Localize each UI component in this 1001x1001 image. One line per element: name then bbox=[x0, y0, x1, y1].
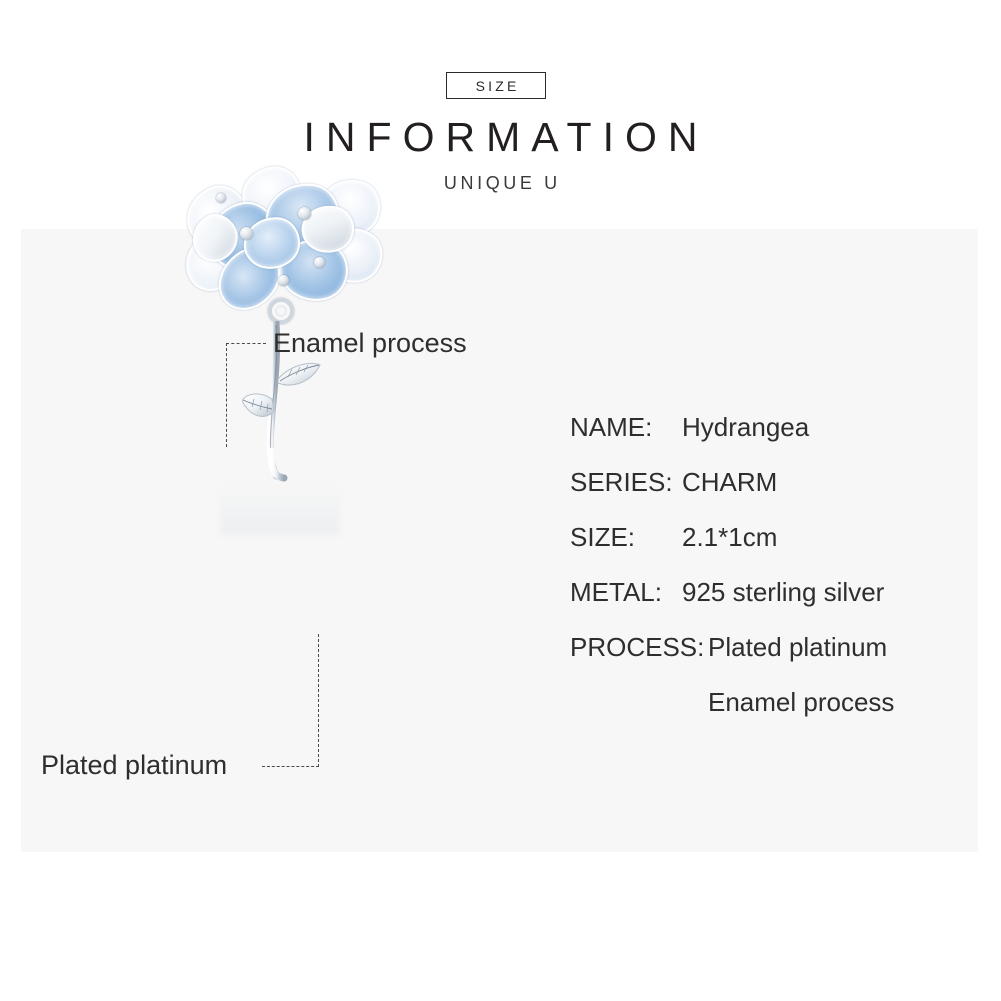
spec-value-process-continuation: Enamel process bbox=[708, 689, 894, 715]
spec-row-name: NAME: Hydrangea bbox=[570, 414, 940, 469]
flower-center-1 bbox=[240, 227, 253, 240]
product-information-page: SIZE INFORMATION UNIQUE U bbox=[0, 0, 1001, 1001]
callout-bottom-leader-horizontal bbox=[262, 766, 319, 767]
spec-value-size: 2.1*1cm bbox=[682, 524, 777, 550]
callout-bottom-leader-vertical bbox=[318, 634, 319, 767]
spec-value-metal: 925 sterling silver bbox=[682, 579, 884, 605]
callout-top-leader-horizontal bbox=[226, 343, 266, 344]
spec-value-process: Plated platinum bbox=[708, 634, 887, 660]
flower-center-4 bbox=[278, 275, 289, 286]
spec-row-series: SERIES: CHARM bbox=[570, 469, 940, 524]
spec-row-process: PROCESS: Plated platinum bbox=[570, 634, 940, 689]
spec-row-size: SIZE: 2.1*1cm bbox=[570, 524, 940, 579]
callout-plated-platinum: Plated platinum bbox=[41, 752, 227, 779]
size-badge-label: SIZE bbox=[472, 79, 519, 93]
flower-center-3 bbox=[314, 257, 325, 268]
size-badge: SIZE bbox=[446, 72, 546, 99]
flower-center-5 bbox=[216, 193, 226, 203]
product-reflection bbox=[220, 483, 340, 535]
product-image bbox=[150, 165, 450, 565]
specification-list: NAME: Hydrangea SERIES: CHARM SIZE: 2.1*… bbox=[570, 414, 940, 744]
hydrangea-flower-cluster bbox=[182, 165, 382, 305]
callout-top-leader-vertical bbox=[226, 343, 227, 447]
page-title: INFORMATION bbox=[0, 114, 1001, 161]
flower-center-2 bbox=[298, 207, 311, 220]
spec-value-series: CHARM bbox=[682, 469, 777, 495]
spec-label-process: PROCESS: bbox=[570, 634, 704, 660]
jump-ring-inner bbox=[275, 305, 287, 317]
callout-enamel-process: Enamel process bbox=[273, 330, 467, 357]
spec-row-process-continuation: Enamel process bbox=[570, 689, 940, 744]
spec-label-series: SERIES: bbox=[570, 469, 673, 495]
spec-row-metal: METAL: 925 sterling silver bbox=[570, 579, 940, 634]
spec-value-name: Hydrangea bbox=[682, 414, 809, 440]
spec-label-metal: METAL: bbox=[570, 579, 662, 605]
spec-label-size: SIZE: bbox=[570, 524, 635, 550]
spec-label-name: NAME: bbox=[570, 414, 652, 440]
